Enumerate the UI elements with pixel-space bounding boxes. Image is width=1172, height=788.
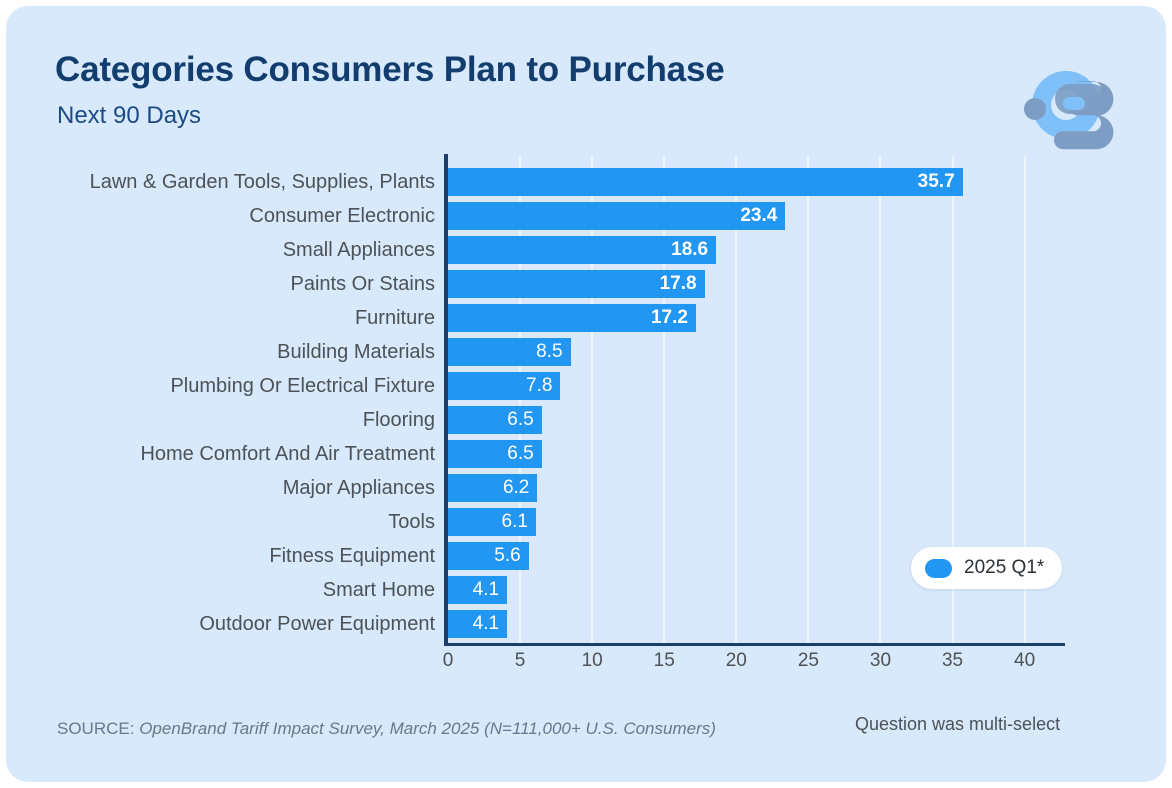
chart-row: Major Appliances6.2 (55, 474, 1117, 502)
x-axis-tick-label: 40 (1014, 650, 1035, 672)
page-title: Categories Consumers Plan to Purchase (55, 50, 724, 90)
category-label: Paints Or Stains (55, 270, 435, 298)
category-label: Small Appliances (55, 236, 435, 264)
chart-row: Plumbing Or Electrical Fixture7.8 (55, 372, 1117, 400)
category-label: Lawn & Garden Tools, Supplies, Plants (55, 168, 435, 196)
bar-value-label: 23.4 (740, 202, 777, 230)
bar-value-label: 4.1 (473, 610, 499, 638)
x-axis-tick-label: 10 (582, 650, 603, 672)
category-label: Tools (55, 508, 435, 536)
x-axis-tick-label: 15 (654, 650, 675, 672)
chart-row: Consumer Electronic23.4 (55, 202, 1117, 230)
bar[interactable]: 17.8 (448, 270, 705, 298)
chart-row: Furniture17.2 (55, 304, 1117, 332)
bar-value-label: 6.2 (503, 474, 529, 502)
bar[interactable]: 7.8 (448, 372, 560, 400)
chart-row: Outdoor Power Equipment4.1 (55, 610, 1117, 638)
x-axis-tick-label: 5 (515, 650, 526, 672)
bar[interactable]: 35.7 (448, 168, 963, 196)
bar-value-label: 6.5 (507, 440, 533, 468)
bar[interactable]: 4.1 (448, 576, 507, 604)
chart-row: Lawn & Garden Tools, Supplies, Plants35.… (55, 168, 1117, 196)
openbrand-logo (1022, 64, 1126, 164)
category-label: Major Appliances (55, 474, 435, 502)
x-axis-tick-label: 35 (942, 650, 963, 672)
source-label: SOURCE: (57, 719, 134, 738)
bar[interactable]: 6.1 (448, 508, 536, 536)
x-axis-tick-label: 30 (870, 650, 891, 672)
bar-value-label: 17.2 (651, 304, 688, 332)
category-label: Plumbing Or Electrical Fixture (55, 372, 435, 400)
bar[interactable]: 17.2 (448, 304, 696, 332)
x-axis-line (444, 643, 1065, 646)
category-label: Outdoor Power Equipment (55, 610, 435, 638)
multi-select-note: Question was multi-select (855, 714, 1060, 735)
bar-value-label: 4.1 (473, 576, 499, 604)
chart-row: Flooring6.5 (55, 406, 1117, 434)
category-label: Building Materials (55, 338, 435, 366)
chart-row: Small Appliances18.6 (55, 236, 1117, 264)
bar[interactable]: 8.5 (448, 338, 571, 366)
bar-value-label: 35.7 (918, 168, 955, 196)
chart-card: Categories Consumers Plan to Purchase Ne… (6, 6, 1166, 782)
chart-row: Paints Or Stains17.8 (55, 270, 1117, 298)
bar[interactable]: 5.6 (448, 542, 529, 570)
category-label: Home Comfort And Air Treatment (55, 440, 435, 468)
bar[interactable]: 6.5 (448, 440, 542, 468)
chart-row: Building Materials8.5 (55, 338, 1117, 366)
bar[interactable]: 23.4 (448, 202, 785, 230)
legend-color-swatch (925, 559, 952, 578)
bar-value-label: 5.6 (494, 542, 520, 570)
bar-value-label: 18.6 (671, 236, 708, 264)
chart-row: Tools6.1 (55, 508, 1117, 536)
source-note: SOURCE: OpenBrand Tariff Impact Survey, … (57, 719, 716, 739)
chart-legend[interactable]: 2025 Q1* (911, 547, 1062, 589)
bar[interactable]: 6.5 (448, 406, 542, 434)
category-label: Consumer Electronic (55, 202, 435, 230)
x-axis-tick-label: 20 (726, 650, 747, 672)
category-label: Smart Home (55, 576, 435, 604)
bar-value-label: 7.8 (526, 372, 552, 400)
category-label: Furniture (55, 304, 435, 332)
source-value: OpenBrand Tariff Impact Survey, March 20… (139, 719, 716, 738)
bar[interactable]: 4.1 (448, 610, 507, 638)
legend-label: 2025 Q1* (964, 557, 1044, 579)
bar-value-label: 6.5 (507, 406, 533, 434)
bar[interactable]: 6.2 (448, 474, 537, 502)
bar-value-label: 8.5 (536, 338, 562, 366)
bar-value-label: 17.8 (660, 270, 697, 298)
category-label: Flooring (55, 406, 435, 434)
page-subtitle: Next 90 Days (57, 102, 201, 130)
x-axis-tick-label: 25 (798, 650, 819, 672)
bar[interactable]: 18.6 (448, 236, 716, 264)
x-axis-tick-label: 0 (443, 650, 454, 672)
bar-value-label: 6.1 (502, 508, 528, 536)
category-label: Fitness Equipment (55, 542, 435, 570)
chart-row: Home Comfort And Air Treatment6.5 (55, 440, 1117, 468)
